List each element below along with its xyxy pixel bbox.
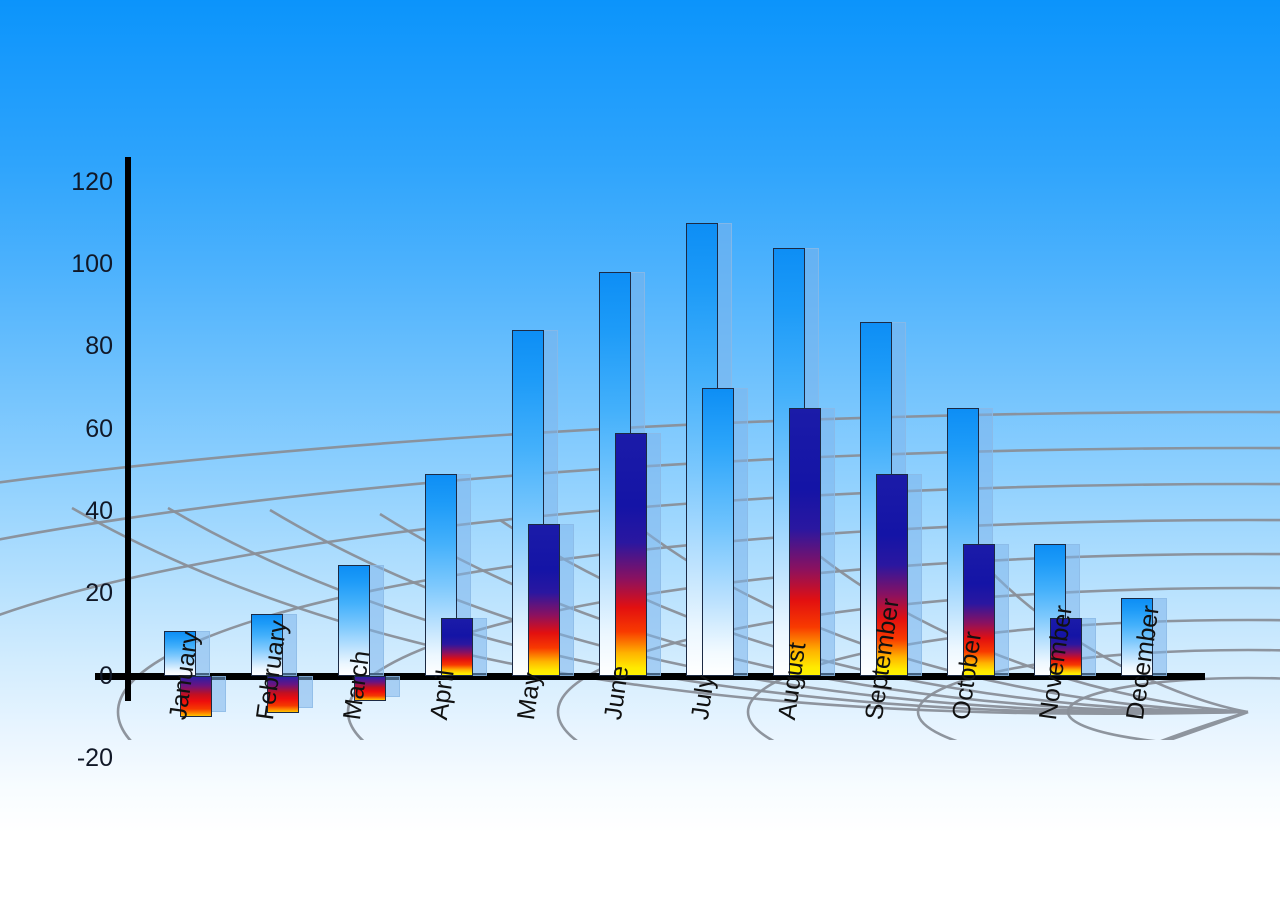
bar-july-series2[interactable]: [702, 388, 734, 676]
x-tick-may: May: [514, 671, 545, 721]
y-tick-100: 100: [71, 252, 113, 277]
y-tick-20: 20: [85, 581, 113, 606]
y-tick-40: 40: [85, 499, 113, 524]
bar-may-series2[interactable]: [528, 524, 560, 676]
bar-june-series2[interactable]: [615, 433, 647, 676]
x-tick-july: July: [688, 674, 719, 722]
y-tick-60: 60: [85, 417, 113, 442]
bar-april-series2[interactable]: [441, 618, 473, 676]
chart-canvas: 120 100 80 60 40 20 0 -20: [0, 0, 1280, 905]
y-tick-0: 0: [99, 664, 113, 689]
y-tick-neg20: -20: [77, 746, 113, 771]
y-axis-line: [125, 157, 131, 701]
bar-august-series2[interactable]: [789, 408, 821, 676]
y-axis-tick-labels: 120 100 80 60 40 20 0 -20: [0, 0, 113, 905]
y-tick-120: 120: [71, 170, 113, 195]
y-tick-80: 80: [85, 334, 113, 359]
